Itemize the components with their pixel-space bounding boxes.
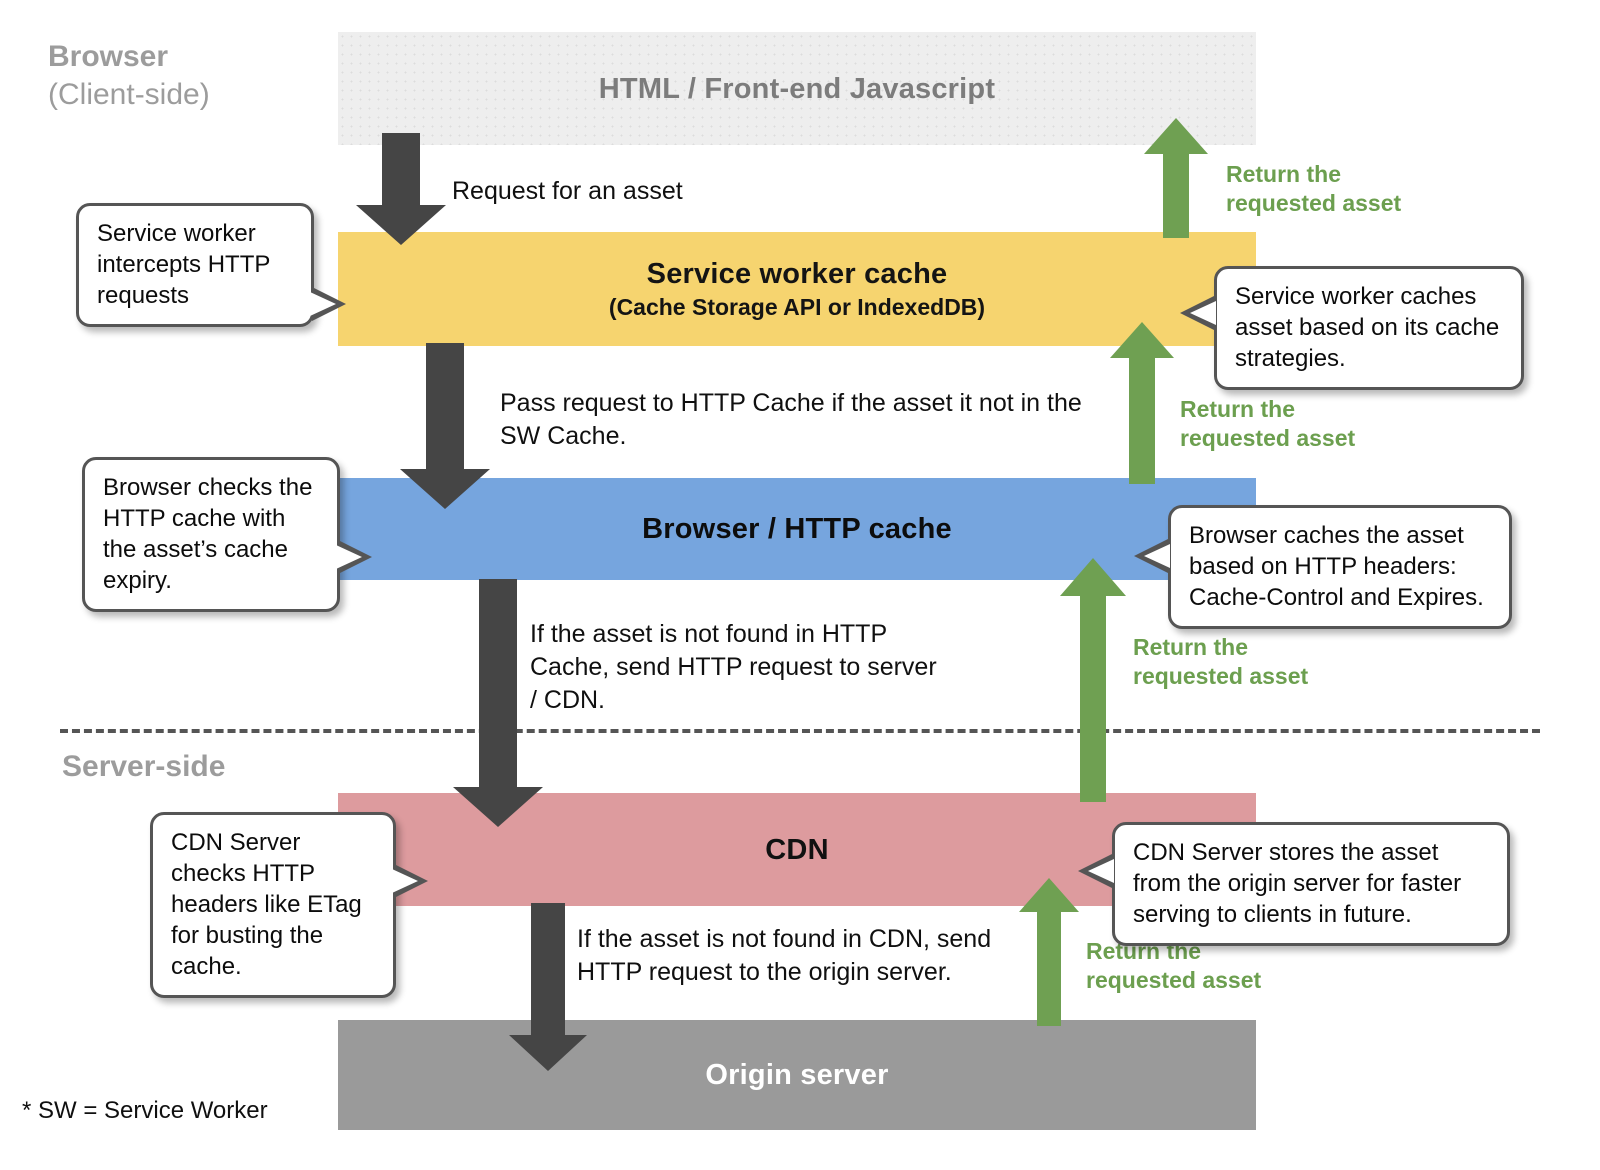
flow-label-request-asset: Request for an asset bbox=[452, 175, 872, 208]
flow-label-pass-to-http: Pass request to HTTP Cache if the asset … bbox=[500, 387, 1090, 453]
arrow-up-return-asset-to-cdn bbox=[1019, 878, 1079, 1026]
callout-tail-icon bbox=[338, 540, 372, 574]
return-label-3: Return the requested asset bbox=[1133, 633, 1393, 691]
layer-sw-title: Service worker cache bbox=[647, 256, 948, 292]
return-label-3-line1: Return the bbox=[1133, 633, 1393, 662]
client-server-divider bbox=[60, 729, 1540, 733]
return-label-3-line2: requested asset bbox=[1133, 662, 1393, 691]
return-label-1: Return the requested asset bbox=[1226, 160, 1486, 218]
return-label-2: Return the requested asset bbox=[1180, 395, 1440, 453]
callout-sw-caches-text: Service worker caches asset based on its… bbox=[1235, 281, 1505, 374]
callout-tail-icon bbox=[1078, 854, 1112, 888]
return-label-4-line2: requested asset bbox=[1086, 966, 1346, 995]
callout-cdn-checks: CDN Server checks HTTP headers like ETag… bbox=[150, 812, 396, 998]
callout-browser-caches: Browser caches the asset based on HTTP h… bbox=[1168, 505, 1512, 629]
layer-html: HTML / Front-end Javascript bbox=[338, 32, 1256, 145]
section-label-client: Browser (Client-side) bbox=[48, 38, 210, 114]
layer-http-title: Browser / HTTP cache bbox=[642, 511, 952, 547]
callout-tail-icon bbox=[1180, 296, 1214, 330]
section-label-client-title: Browser bbox=[48, 38, 210, 76]
callout-browser-checks: Browser checks the HTTP cache with the a… bbox=[82, 457, 340, 612]
callout-tail-icon bbox=[394, 864, 428, 898]
callout-cdn-checks-body: CDN Server checks HTTP headers like ETag… bbox=[150, 812, 396, 998]
footnote-sw-legend: * SW = Service Worker bbox=[22, 1097, 268, 1125]
callout-browser-checks-body: Browser checks the HTTP cache with the a… bbox=[82, 457, 340, 612]
flow-label-to-cdn: If the asset is not found in HTTP Cache,… bbox=[530, 618, 950, 717]
layer-sw-subtitle: (Cache Storage API or IndexedDB) bbox=[609, 292, 985, 322]
section-label-client-subtitle: (Client-side) bbox=[48, 76, 210, 114]
layer-html-title: HTML / Front-end Javascript bbox=[599, 71, 995, 107]
callout-sw-caches: Service worker caches asset based on its… bbox=[1214, 266, 1524, 390]
section-label-server-title: Server-side bbox=[62, 748, 225, 786]
callout-sw-intercept-text: Service worker intercepts HTTP requests bbox=[97, 218, 295, 311]
arrow-up-return-asset-to-html bbox=[1144, 118, 1208, 238]
layer-origin-title: Origin server bbox=[705, 1057, 888, 1093]
flow-label-to-origin: If the asset is not found in CDN, send H… bbox=[577, 923, 1027, 989]
callout-sw-intercept: Service worker intercepts HTTP requests bbox=[76, 203, 314, 327]
callout-sw-caches-body: Service worker caches asset based on its… bbox=[1214, 266, 1524, 390]
return-label-2-line1: Return the bbox=[1180, 395, 1440, 424]
callout-sw-intercept-body: Service worker intercepts HTTP requests bbox=[76, 203, 314, 327]
return-label-1-line1: Return the bbox=[1226, 160, 1486, 189]
callout-cdn-stores-text: CDN Server stores the asset from the ori… bbox=[1133, 837, 1491, 930]
arrow-down-pass-to-http bbox=[400, 343, 490, 509]
callout-browser-caches-text: Browser caches the asset based on HTTP h… bbox=[1189, 520, 1493, 613]
callout-tail-icon bbox=[1134, 539, 1168, 573]
arrow-up-return-asset-to-http bbox=[1060, 558, 1126, 802]
layer-cdn-title: CDN bbox=[765, 832, 828, 868]
section-label-server: Server-side bbox=[62, 748, 225, 786]
layer-origin-server: Origin server bbox=[338, 1020, 1256, 1130]
arrow-down-request-asset bbox=[356, 133, 446, 245]
arrow-up-return-asset-to-sw bbox=[1110, 322, 1174, 484]
callout-cdn-checks-text: CDN Server checks HTTP headers like ETag… bbox=[171, 827, 377, 982]
callout-tail-icon bbox=[312, 287, 346, 321]
callout-browser-caches-body: Browser caches the asset based on HTTP h… bbox=[1168, 505, 1512, 629]
return-label-2-line2: requested asset bbox=[1180, 424, 1440, 453]
arrow-down-to-origin bbox=[509, 903, 587, 1071]
return-label-1-line2: requested asset bbox=[1226, 189, 1486, 218]
callout-cdn-stores: CDN Server stores the asset from the ori… bbox=[1112, 822, 1510, 946]
callout-browser-checks-text: Browser checks the HTTP cache with the a… bbox=[103, 472, 321, 596]
callout-cdn-stores-body: CDN Server stores the asset from the ori… bbox=[1112, 822, 1510, 946]
